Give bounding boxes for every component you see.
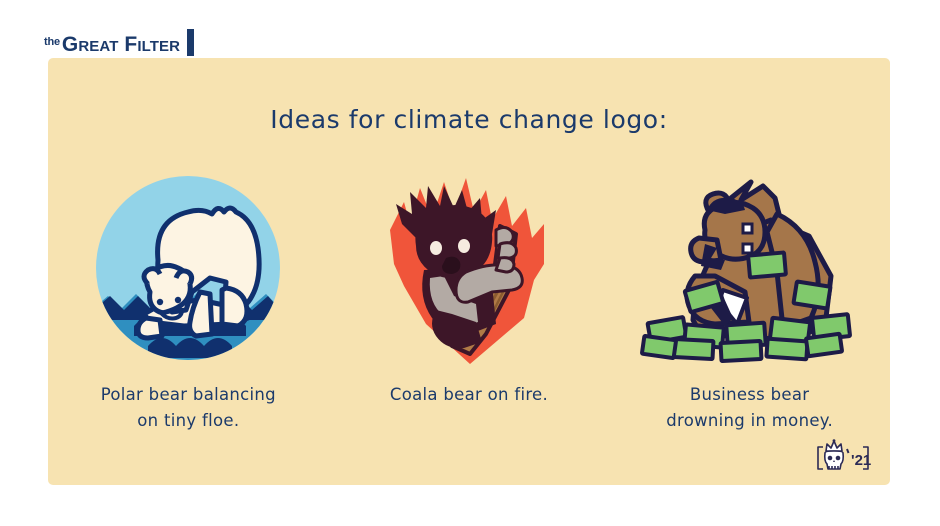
brand-logo: the Great Filter: [44, 27, 194, 57]
brand-prefix: the: [44, 37, 60, 48]
koala-bear-on-fire-illustration: [374, 168, 564, 368]
koala-art-container: [374, 168, 564, 368]
crowned-skull-signature: '21: [814, 439, 872, 473]
caption-polar-bear: Polar bear balancing on tiny floe.: [101, 382, 276, 433]
polar-bear-art-container: [88, 168, 288, 368]
brand-bar-icon: [187, 29, 194, 56]
page-title: Ideas for climate change logo:: [48, 105, 890, 134]
comic-panel: Ideas for climate change logo:: [48, 58, 890, 485]
polar-bear-on-ice-floe-illustration: [88, 168, 288, 368]
caption-koala: Coala bear on fire.: [390, 382, 548, 408]
logo-idea-polar-bear: Polar bear balancing on tiny floe.: [54, 168, 322, 433]
business-bear-art-container: [635, 168, 865, 368]
brand-name: Great Filter: [62, 34, 180, 55]
business-bear-drowning-in-money-illustration: [635, 168, 865, 368]
caption-business-bear: Business bear drowning in money.: [666, 382, 833, 433]
signature-year: '21: [851, 452, 871, 469]
logo-idea-koala-on-fire: Coala bear on fire.: [335, 168, 603, 408]
logo-idea-business-bear: Business bear drowning in money.: [616, 168, 884, 433]
logo-ideas-row: Polar bear balancing on tiny floe.: [48, 168, 890, 433]
